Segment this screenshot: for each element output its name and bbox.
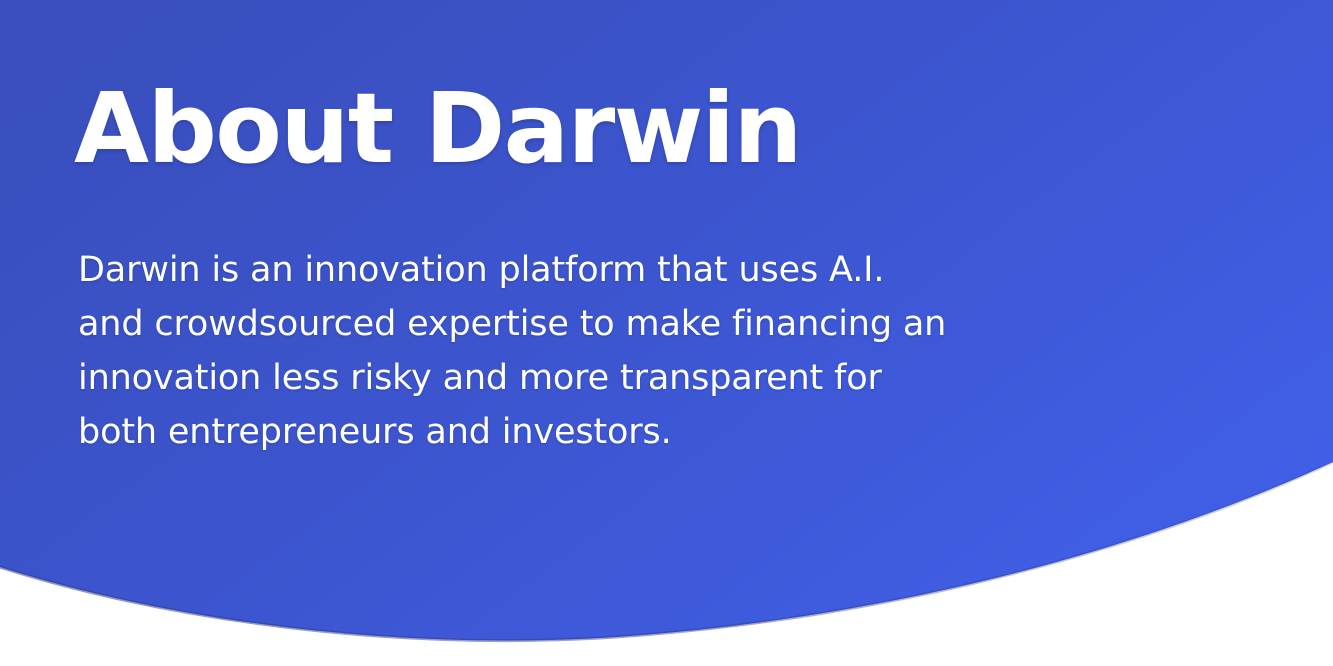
hero-description-line-3: innovation less risky and more transpare…	[78, 351, 908, 405]
hero-description-line-4: both entrepreneurs and investors.	[78, 405, 908, 459]
hero-description: Darwin is an innovation platform that us…	[78, 243, 908, 459]
hero-content: About Darwin Darwin is an innovation pla…	[0, 0, 1333, 666]
hero-description-line-1: Darwin is an innovation platform that us…	[78, 243, 908, 297]
page-title: About Darwin	[74, 73, 801, 185]
about-darwin-hero-section: About Darwin Darwin is an innovation pla…	[0, 0, 1333, 666]
hero-description-line-2: and crowdsourced expertise to make finan…	[78, 297, 908, 351]
